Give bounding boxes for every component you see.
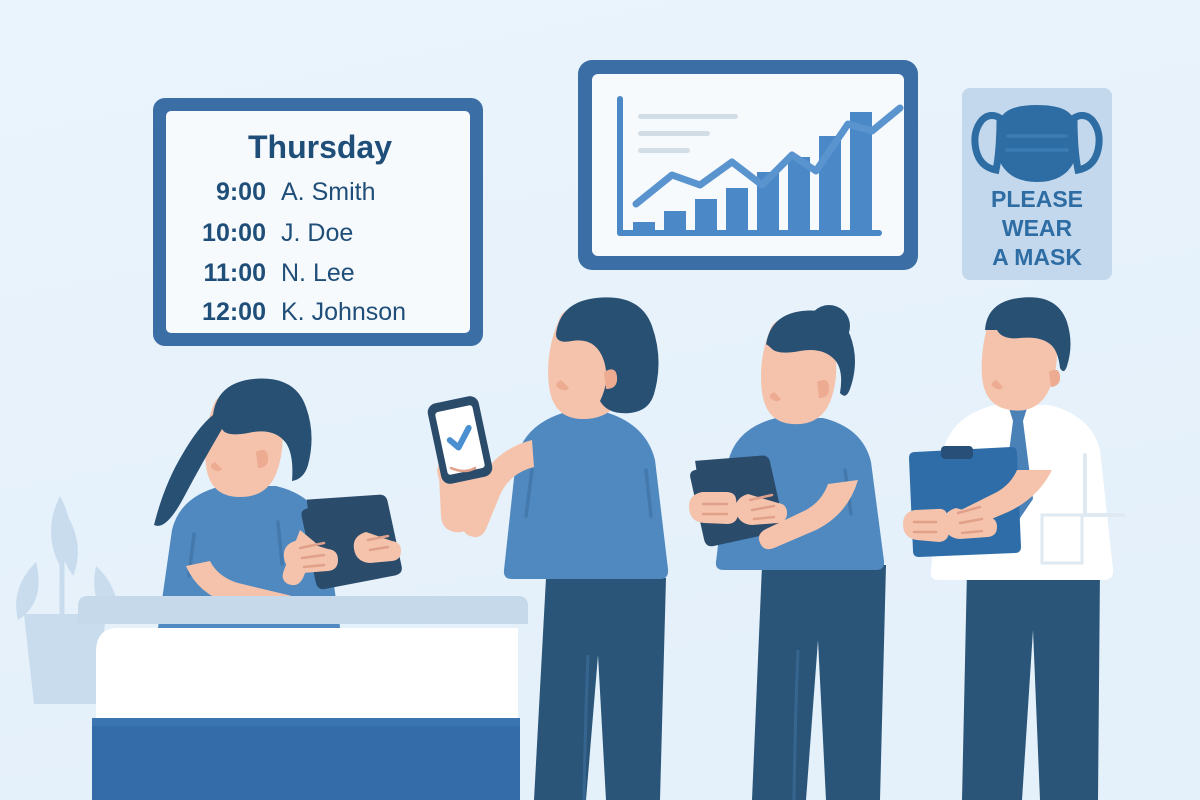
plant-pot: [24, 614, 106, 704]
schedule-row-patient-0: A. Smith: [281, 178, 375, 206]
chart-placeholder-line-0: [638, 114, 738, 119]
illustration-scene: Thursday 9:00 A. Smith 10:00 J. Doe 11:0…: [0, 0, 1200, 800]
chart-bar-0: [633, 222, 655, 232]
mask-sign-line-1: WEAR: [1002, 215, 1073, 241]
schedule-row-patient-2: N. Lee: [281, 259, 355, 287]
schedule-row-time-3: 12:00: [202, 298, 266, 326]
schedule-row-time-0: 9:00: [216, 178, 266, 206]
clipboard-clip: [941, 446, 973, 459]
desk-top-ledge: [78, 596, 528, 624]
chart-placeholder-line-1: [638, 131, 710, 136]
chart-bar-1: [664, 211, 686, 232]
chart-bar-2: [695, 199, 717, 232]
schedule-row-time-1: 10:00: [202, 219, 266, 247]
schedule-row-patient-1: J. Doe: [281, 219, 353, 247]
desk-base-highlight: [92, 718, 520, 726]
schedule-row-time-2: 11:00: [203, 259, 266, 287]
staff-left-hand: [903, 509, 949, 542]
chart-x-axis: [617, 230, 882, 236]
appointment-schedule-board[interactable]: Thursday 9:00 A. Smith 10:00 J. Doe 11:0…: [153, 98, 483, 346]
tablet-patient-left-hand: [689, 492, 738, 524]
wall-performance-chart[interactable]: [578, 60, 918, 270]
desk-front-panel: [118, 628, 518, 720]
chart-placeholder-line-2: [638, 148, 690, 153]
please-wear-a-mask-sign[interactable]: PLEASE WEAR A MASK: [962, 88, 1112, 280]
chart-bar-3: [726, 188, 748, 232]
desk-base: [92, 718, 520, 800]
mask-sign-line-0: PLEASE: [991, 186, 1083, 212]
schedule-board-title: Thursday: [248, 129, 392, 165]
chart-y-axis: [617, 96, 623, 236]
schedule-row-patient-3: K. Johnson: [281, 298, 406, 326]
mask-sign-line-2: A MASK: [992, 244, 1082, 270]
desk-front-panel-round: [96, 628, 126, 720]
tablet-patient-hair-bun: [808, 305, 850, 347]
